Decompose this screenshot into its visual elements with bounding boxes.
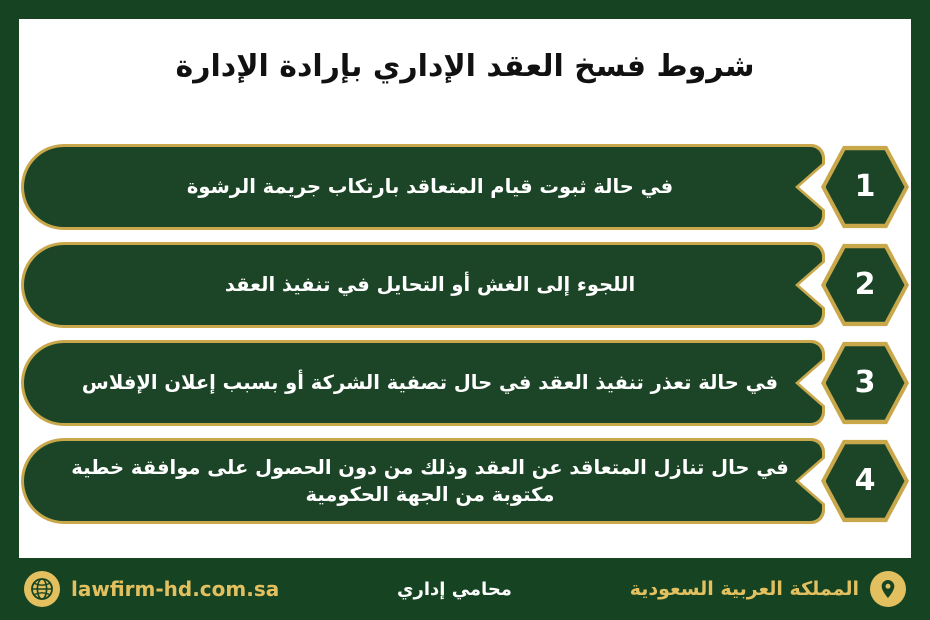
footer-website[interactable]: lawfirm-hd.com.sa	[24, 571, 279, 607]
item-bar: في حال تنازل المتعاقد عن العقد وذلك من د…	[21, 438, 825, 524]
item-number-badge: 3	[819, 340, 911, 426]
item-bar: في حالة تعذر تنفيذ العقد في حال تصفية ال…	[21, 340, 825, 426]
page-title: شروط فسخ العقد الإداري بإرادة الإدارة	[19, 47, 911, 88]
hexagon-shape: 2	[821, 243, 909, 327]
item-number: 2	[855, 270, 876, 300]
item-number: 4	[855, 466, 876, 496]
item-bar-inner: اللجوء إلى الغش أو التحايل في تنفيذ العق…	[24, 245, 822, 325]
globe-icon	[24, 571, 60, 607]
hexagon-shape: 1	[821, 145, 909, 229]
footer-location: المملكة العربية السعودية	[630, 571, 906, 607]
item-number: 3	[855, 368, 876, 398]
location-pin-icon	[870, 571, 906, 607]
item-bar-inner: في حال تنازل المتعاقد عن العقد وذلك من د…	[24, 441, 822, 521]
list-item: 1 في حالة ثبوت قيام المتعاقد بارتكاب جري…	[19, 144, 911, 230]
hexagon-inner: 1	[826, 150, 905, 225]
list-item: 3 في حالة تعذر تنفيذ العقد في حال تصفية …	[19, 340, 911, 426]
item-number-badge: 1	[819, 144, 911, 230]
footer-website-label[interactable]: lawfirm-hd.com.sa	[71, 577, 279, 601]
item-text: اللجوء إلى الغش أو التحايل في تنفيذ العق…	[64, 271, 796, 298]
item-text: في حالة تعذر تنفيذ العقد في حال تصفية ال…	[64, 369, 796, 396]
hexagon-shape: 4	[821, 439, 909, 523]
item-bar-inner: في حالة تعذر تنفيذ العقد في حال تصفية ال…	[24, 343, 822, 423]
hexagon-inner: 3	[826, 346, 905, 421]
infographic-poster: شروط فسخ العقد الإداري بإرادة الإدارة 1 …	[0, 0, 930, 620]
item-number: 1	[855, 172, 876, 202]
item-text: في حالة ثبوت قيام المتعاقد بارتكاب جريمة…	[64, 173, 796, 200]
conditions-list: 1 في حالة ثبوت قيام المتعاقد بارتكاب جري…	[19, 144, 911, 542]
footer-specialty: محامي إداري	[279, 579, 629, 600]
item-number-badge: 2	[819, 242, 911, 328]
footer-location-label: المملكة العربية السعودية	[630, 578, 859, 600]
item-bar: في حالة ثبوت قيام المتعاقد بارتكاب جريمة…	[21, 144, 825, 230]
item-bar: اللجوء إلى الغش أو التحايل في تنفيذ العق…	[21, 242, 825, 328]
list-item: 4 في حال تنازل المتعاقد عن العقد وذلك من…	[19, 438, 911, 524]
hexagon-inner: 2	[826, 248, 905, 323]
hexagon-shape: 3	[821, 341, 909, 425]
item-text: في حال تنازل المتعاقد عن العقد وذلك من د…	[64, 454, 796, 509]
item-number-badge: 4	[819, 438, 911, 524]
footer-specialty-label: محامي إداري	[397, 579, 512, 600]
item-bar-inner: في حالة ثبوت قيام المتعاقد بارتكاب جريمة…	[24, 147, 822, 227]
hexagon-inner: 4	[826, 444, 905, 519]
list-item: 2 اللجوء إلى الغش أو التحايل في تنفيذ ال…	[19, 242, 911, 328]
footer-bar: المملكة العربية السعودية محامي إداري law…	[0, 558, 930, 620]
